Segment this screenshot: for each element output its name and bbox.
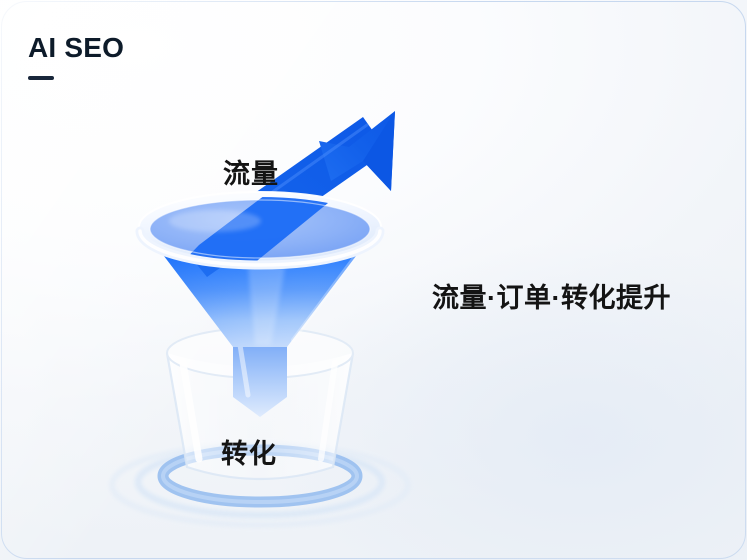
page-title: AI SEO [28, 34, 124, 62]
label-conversion: 转化 [221, 432, 277, 471]
title-underline-rule [28, 76, 54, 80]
slide-canvas: AI SEO 流量·订单·转化提升 [0, 0, 747, 560]
label-traffic: 流量 [223, 152, 279, 191]
tagline-text: 流量·订单·转化提升 [432, 276, 671, 315]
page-title-block: AI SEO [28, 34, 124, 80]
